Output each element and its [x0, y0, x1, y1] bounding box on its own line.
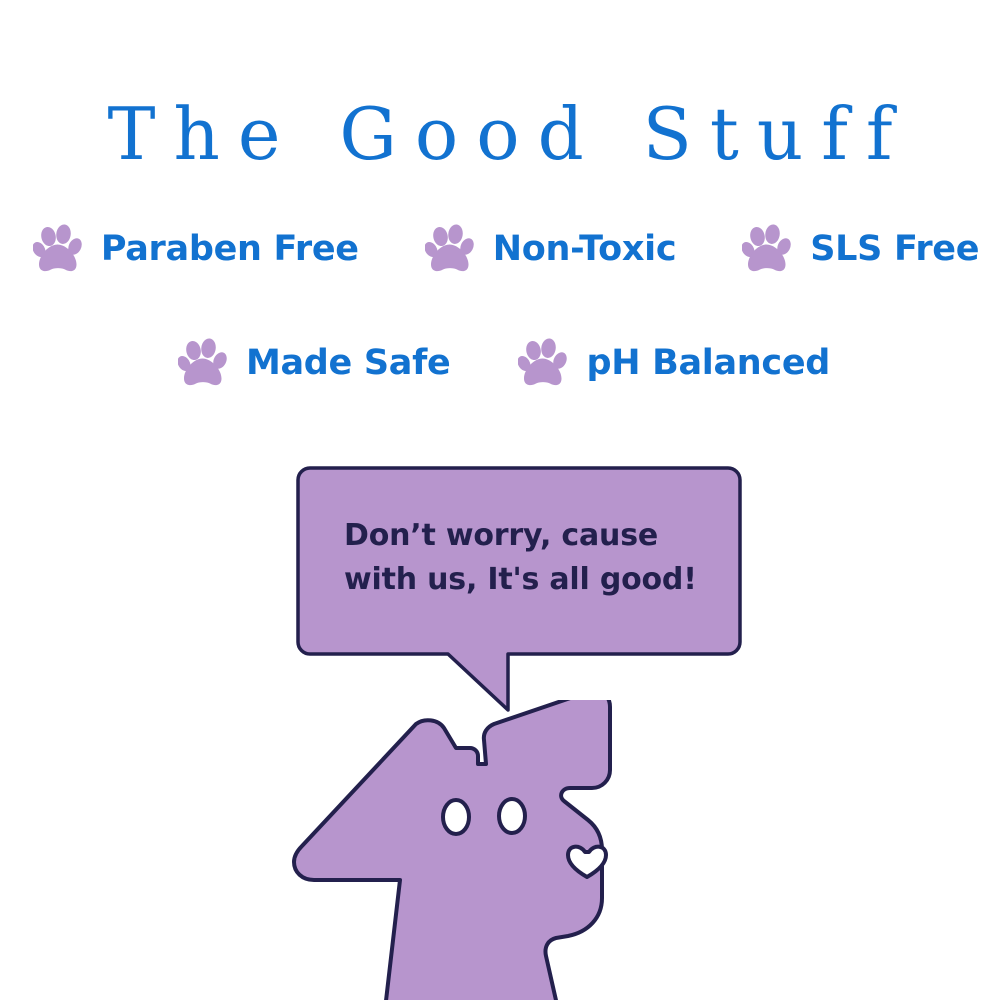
page-title: The Good Stuff — [0, 98, 1000, 170]
feature-item-ph-balanced: pH Balanced — [518, 336, 830, 390]
dog-eye-left — [443, 800, 469, 834]
feature-row-1: Paraben Free Non-Toxic — [0, 222, 1000, 276]
feature-label: Made Safe — [246, 346, 451, 381]
feature-label: pH Balanced — [586, 346, 830, 381]
paw-icon — [425, 222, 479, 276]
paw-icon — [33, 222, 87, 276]
feature-label: SLS Free — [810, 232, 979, 267]
feature-list: Paraben Free Non-Toxic — [0, 222, 1000, 390]
paw-icon — [742, 222, 796, 276]
feature-item-sls-free: SLS Free — [742, 222, 979, 276]
dog-character — [288, 700, 658, 1000]
feature-item-paraben-free: Paraben Free — [33, 222, 359, 276]
poster-canvas: The Good Stuff Paraben Free — [0, 0, 1000, 1000]
dog-character-shape — [288, 700, 658, 1000]
speech-bubble-text: Don’t worry, cause with us, It's all goo… — [344, 514, 714, 602]
feature-row-2: Made Safe pH Balanced — [0, 336, 1000, 390]
speech-bubble: Don’t worry, cause with us, It's all goo… — [296, 466, 742, 716]
feature-item-made-safe: Made Safe — [178, 336, 451, 390]
dog-eye-right — [499, 799, 525, 833]
speech-line-1: Don’t worry, cause — [344, 514, 714, 558]
feature-label: Non-Toxic — [493, 232, 677, 267]
paw-icon — [518, 336, 572, 390]
speech-line-2: with us, It's all good! — [344, 558, 714, 602]
feature-item-non-toxic: Non-Toxic — [425, 222, 677, 276]
paw-icon — [178, 336, 232, 390]
feature-label: Paraben Free — [101, 232, 359, 267]
